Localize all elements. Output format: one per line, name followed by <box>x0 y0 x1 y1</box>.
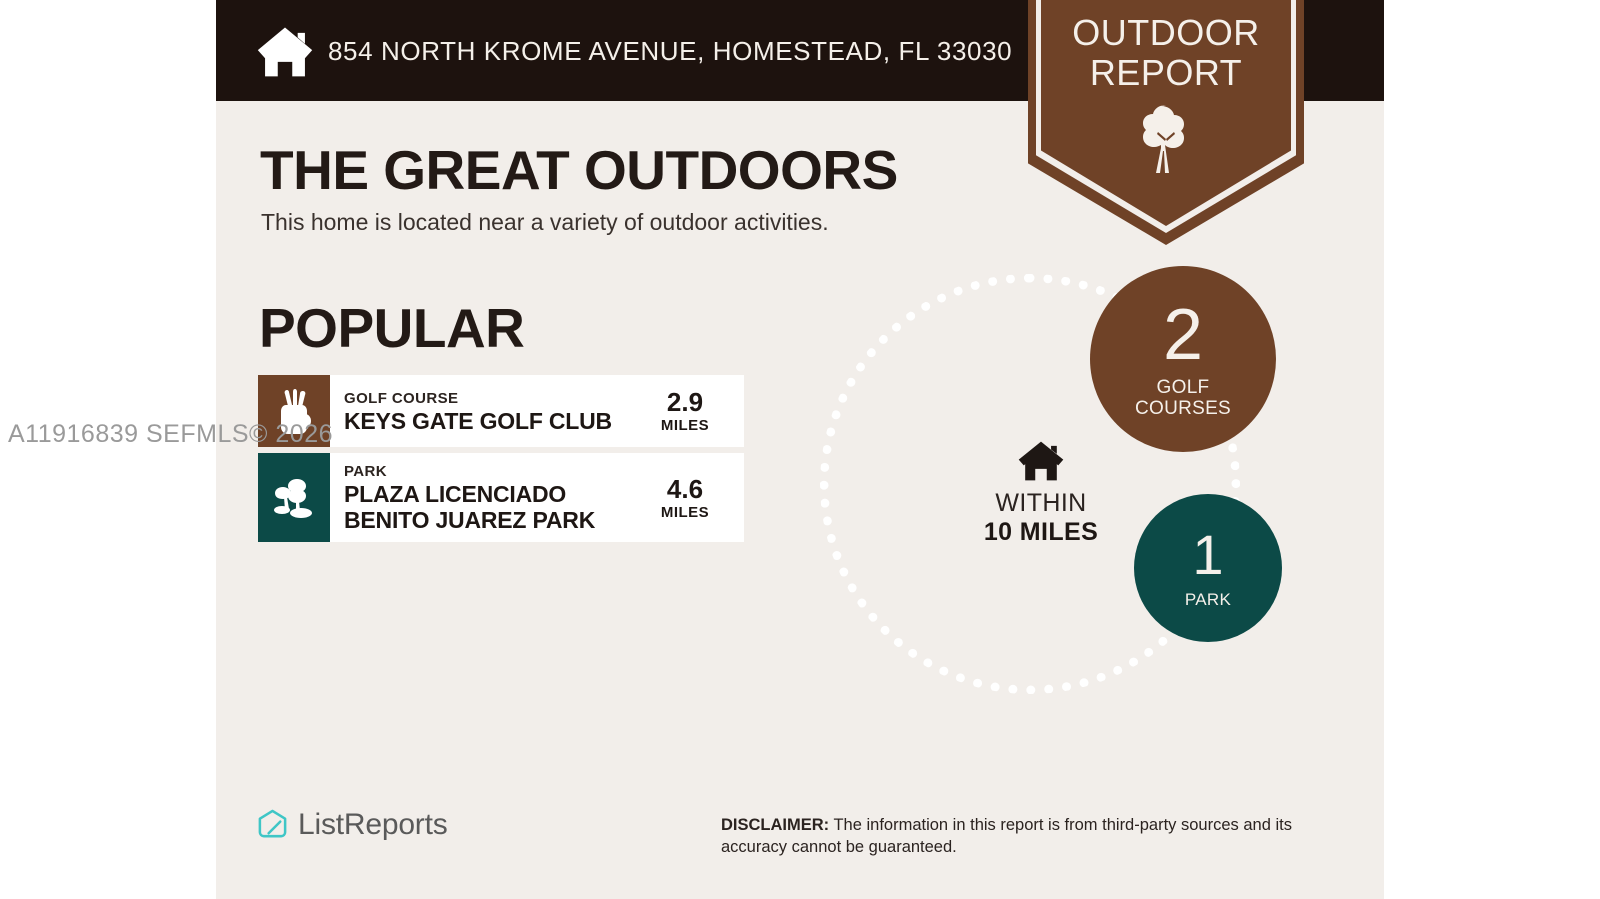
park-icon-tile <box>258 453 330 542</box>
tree-icon <box>1138 103 1194 175</box>
house-icon <box>256 22 314 80</box>
trees-icon <box>271 477 317 519</box>
list-item-distance: 4.6 MILES <box>642 453 744 542</box>
badge-core: OUTDOOR REPORT <box>1041 0 1291 226</box>
radius-label: 10 MILES <box>956 518 1126 547</box>
stat-circle-golf-courses: 2 GOLF COURSES <box>1090 266 1276 452</box>
list-item-name: PLAZA LICENCIADO BENITO JUAREZ PARK <box>344 481 642 533</box>
distance-unit: MILES <box>661 417 709 434</box>
stat-label-line-2: COURSES <box>1135 398 1231 419</box>
list-item-body: GOLF COURSE KEYS GATE GOLF CLUB <box>330 375 642 447</box>
section-title-popular: POPULAR <box>259 296 524 360</box>
flyer-page: A11916839 SEFMLS© 2026 854 NORTH KROME A… <box>0 0 1600 899</box>
outdoor-report-badge: OUTDOOR REPORT <box>1028 0 1304 245</box>
list-item-name: KEYS GATE GOLF CLUB <box>344 408 642 434</box>
flyer-body: 854 NORTH KROME AVENUE, HOMESTEAD, FL 33… <box>216 0 1384 899</box>
list-item[interactable]: PARK PLAZA LICENCIADO BENITO JUAREZ PARK… <box>258 453 744 542</box>
badge-line-1: OUTDOOR <box>1041 12 1291 54</box>
listreports-pin-icon <box>256 809 289 842</box>
popular-list: GOLF COURSE KEYS GATE GOLF CLUB 2.9 MILE… <box>258 375 744 548</box>
distance-unit: MILES <box>661 504 709 521</box>
stat-circle-parks: 1 PARK <box>1134 494 1282 642</box>
listreports-wordmark: ListReports <box>298 808 448 842</box>
disclaimer: DISCLAIMER: The information in this repo… <box>721 814 1321 858</box>
listreports-logo[interactable]: ListReports <box>256 808 448 842</box>
list-item-body: PARK PLAZA LICENCIADO BENITO JUAREZ PARK <box>330 453 642 542</box>
page-subtitle: This home is located near a variety of o… <box>261 209 829 236</box>
stat-label: GOLF COURSES <box>1135 377 1231 419</box>
stat-label: PARK <box>1185 589 1231 610</box>
property-address: 854 NORTH KROME AVENUE, HOMESTEAD, FL 33… <box>328 32 1012 70</box>
list-item-category: GOLF COURSE <box>344 389 642 408</box>
ring-center-label: WITHIN 10 MILES <box>956 440 1126 547</box>
list-item-distance: 2.9 MILES <box>642 375 744 447</box>
badge-inner-border: OUTDOOR REPORT <box>1036 0 1296 233</box>
disclaimer-label: DISCLAIMER: <box>721 816 829 834</box>
stat-label-line-1: GOLF <box>1135 377 1231 398</box>
list-item-category: PARK <box>344 462 642 481</box>
within-label: WITHIN <box>956 489 1126 518</box>
distance-value: 2.9 <box>667 388 703 417</box>
stat-value: 2 <box>1163 299 1203 371</box>
page-title: THE GREAT OUTDOORS <box>260 138 898 202</box>
distance-value: 4.6 <box>667 475 703 504</box>
mls-watermark: A11916839 SEFMLS© 2026 <box>8 420 333 449</box>
house-icon <box>1018 440 1064 482</box>
badge-line-2: REPORT <box>1041 52 1291 94</box>
stat-value: 1 <box>1192 527 1223 583</box>
